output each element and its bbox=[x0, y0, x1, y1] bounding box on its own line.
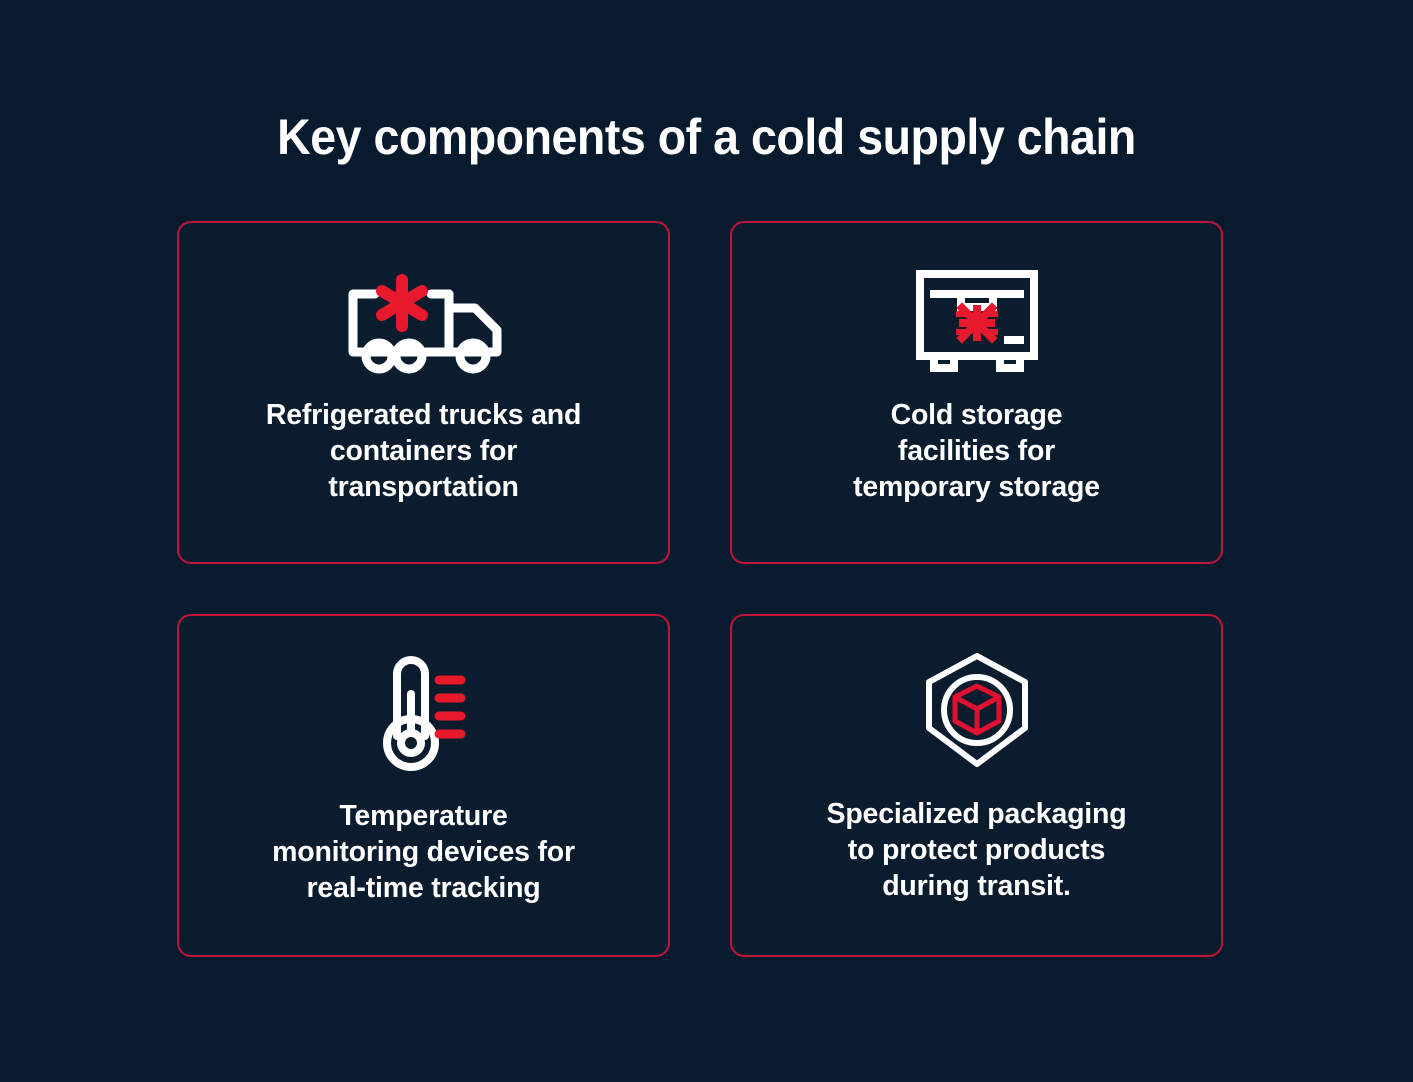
component-card-label: Cold storage facilities for temporary st… bbox=[827, 397, 1126, 505]
infographic-page: Key components of a cold supply chain bbox=[0, 0, 1413, 1082]
component-card-refrigerated-trucks[interactable]: Refrigerated trucks and containers for t… bbox=[177, 221, 670, 564]
shield-package-icon bbox=[917, 648, 1037, 776]
component-card-cold-storage[interactable]: Cold storage facilities for temporary st… bbox=[730, 221, 1223, 564]
thermometer-icon bbox=[371, 648, 476, 776]
cold-storage-warehouse-icon bbox=[912, 255, 1042, 383]
components-grid: Refrigerated trucks and containers for t… bbox=[177, 221, 1223, 957]
refrigerated-truck-icon bbox=[339, 255, 509, 383]
component-card-label: Specialized packaging to protect product… bbox=[801, 796, 1153, 904]
component-card-specialized-packaging[interactable]: Specialized packaging to protect product… bbox=[730, 614, 1223, 957]
page-title: Key components of a cold supply chain bbox=[49, 106, 1363, 168]
component-card-label: Refrigerated trucks and containers for t… bbox=[240, 397, 607, 505]
component-card-label: Temperature monitoring devices for real-… bbox=[246, 798, 601, 906]
component-card-temperature-monitoring[interactable]: Temperature monitoring devices for real-… bbox=[177, 614, 670, 957]
